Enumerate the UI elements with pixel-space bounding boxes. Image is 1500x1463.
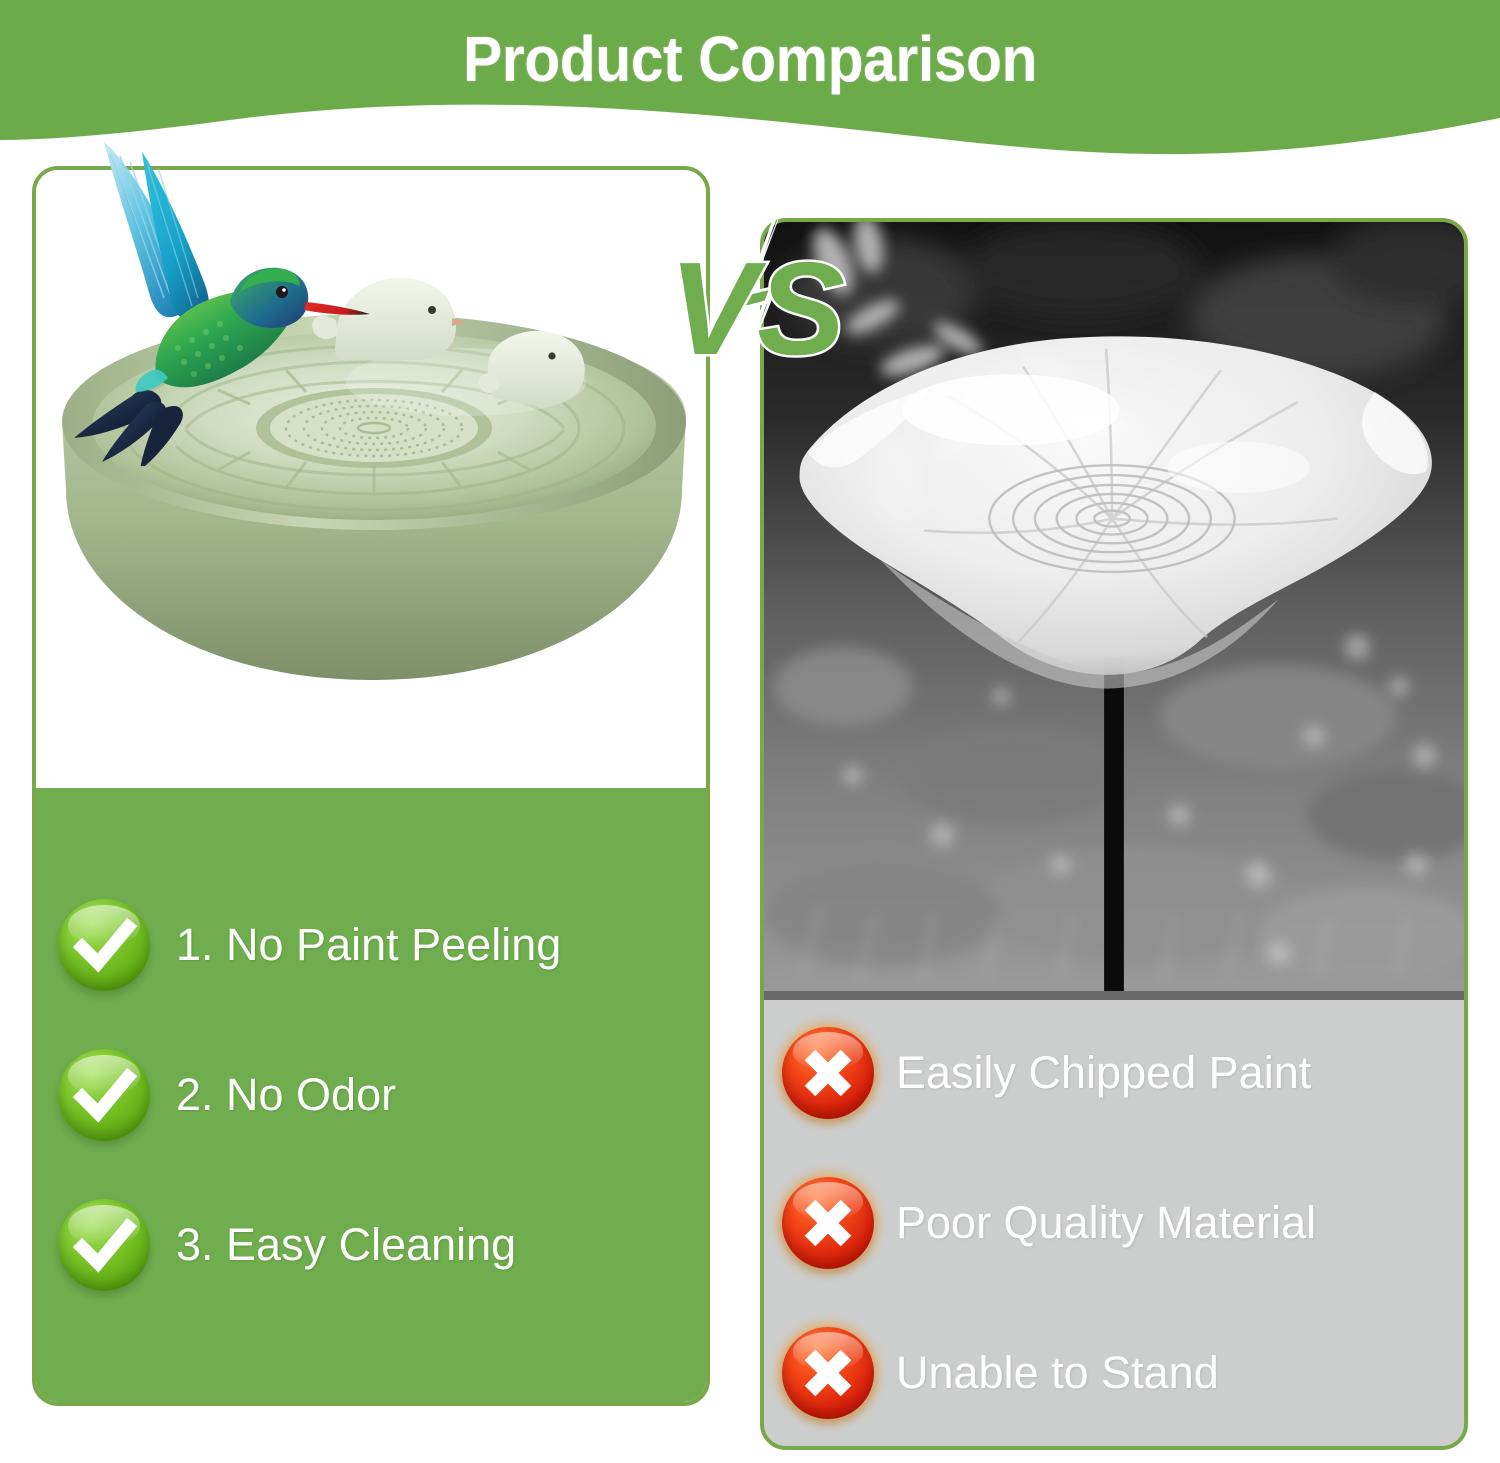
check-icon [58, 1199, 150, 1291]
list-item-label: 1. No Paint Peeling [176, 919, 561, 971]
list-item-label: 3. Easy Cleaning [176, 1219, 516, 1271]
hummingbird-tail [74, 390, 183, 466]
list-item: 1. No Paint Peeling [58, 899, 706, 991]
check-icon [58, 1049, 150, 1141]
list-item: 2. No Odor [58, 1049, 706, 1141]
x-icon [782, 1177, 874, 1269]
left-feature-list: 1. No Paint Peeling 2. No Odor 3. Easy C… [36, 788, 706, 1402]
hummingbird-eye [276, 286, 288, 298]
list-item: Easily Chipped Paint [782, 1027, 1464, 1119]
check-icon [58, 899, 150, 991]
list-item-label: Poor Quality Material [896, 1197, 1316, 1249]
right-product-panel: Easily Chipped Paint Poor Quality Materi… [760, 218, 1468, 1450]
list-item-label: 2. No Odor [176, 1069, 396, 1121]
list-item-label: Easily Chipped Paint [896, 1047, 1311, 1099]
x-icon [782, 1327, 874, 1419]
list-item: 3. Easy Cleaning [58, 1199, 706, 1291]
vs-badge: VS [663, 186, 853, 416]
hummingbird-bill [304, 302, 370, 315]
glass-birdbath-photo-illustration [764, 222, 1464, 991]
vs-badge-graphic: VS [663, 186, 853, 416]
metal-stake [1104, 657, 1124, 991]
list-item-label: Unable to Stand [896, 1347, 1219, 1399]
x-icon [782, 1027, 874, 1119]
vs-badge-label: VS [669, 235, 845, 382]
right-drawback-list: Easily Chipped Paint Poor Quality Materi… [764, 1000, 1464, 1446]
hummingbird-illustration [44, 126, 374, 466]
page-title: Product Comparison [60, 22, 1440, 96]
right-product-photo [764, 222, 1464, 1000]
list-item: Poor Quality Material [782, 1177, 1464, 1269]
list-item: Unable to Stand [782, 1327, 1464, 1419]
